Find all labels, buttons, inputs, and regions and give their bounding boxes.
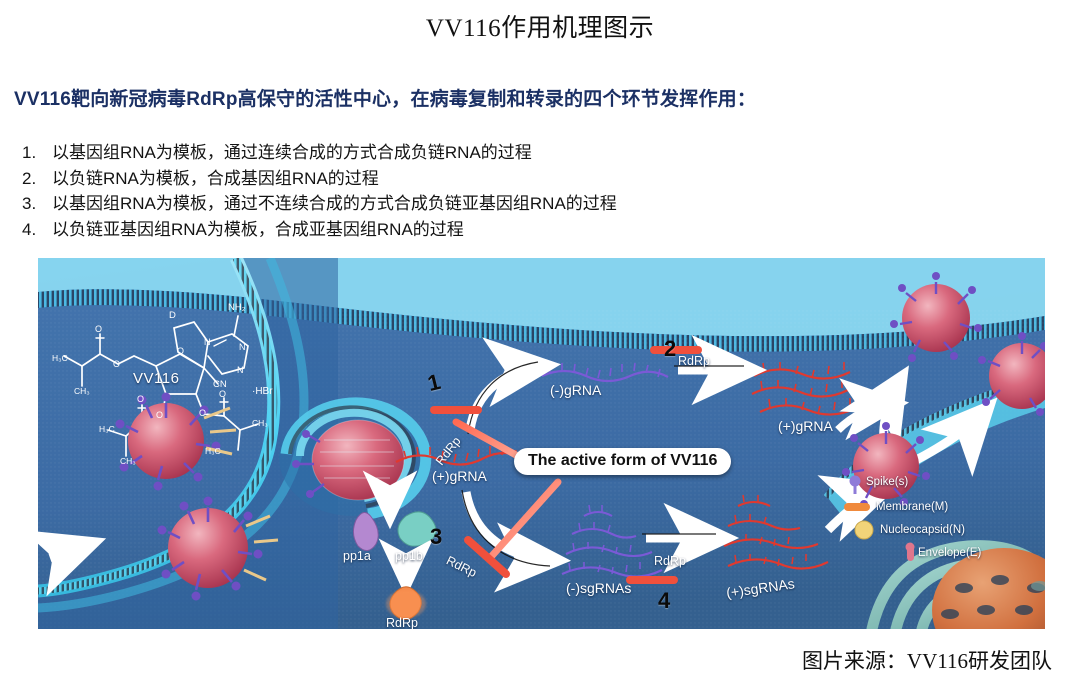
chem-label-o-7: O	[219, 389, 226, 399]
list-item-text: 以负链亚基因组RNA为模板，合成亚基因组RNA的过程	[52, 217, 464, 243]
page-title: VV116作用机理图示	[0, 8, 1080, 44]
chem-label-h3c-3: H₃C	[205, 446, 221, 456]
image-source-caption: 图片来源：VV116研发团队	[802, 645, 1052, 675]
active-form-badge: The active form of VV116	[514, 448, 731, 475]
list-item-number: 3.	[22, 191, 52, 217]
chem-label-o-3: O	[137, 394, 144, 404]
step-number-2: 2	[664, 336, 676, 362]
chem-label-o-6: O	[199, 408, 206, 418]
chem-label-nh2: NH₂	[228, 302, 245, 313]
chem-label-h3c-2: H₃C	[99, 424, 115, 434]
list-item-text: 以基因组RNA为模板，通过连续合成的方式合成负链RNA的过程	[52, 140, 532, 166]
chem-label-n-1: N	[204, 337, 211, 347]
chem-label-o-1: O	[95, 324, 102, 334]
chem-label-cn: CN	[213, 379, 227, 390]
list-item-text: 以基因组RNA为模板，通过不连续合成的方式合成负链亚基因组RNA的过程	[52, 191, 617, 217]
step-number-3: 3	[430, 524, 442, 550]
membrane-icon	[844, 503, 870, 511]
list-item: 1. 以基因组RNA为模板，通过连续合成的方式合成负链RNA的过程	[22, 140, 1042, 166]
chem-label-ch3-3: CH₃	[252, 418, 268, 428]
chem-label-o-5: O	[177, 346, 184, 356]
legend-label-membrane: Membrane(M)	[876, 501, 948, 513]
spike-icon	[850, 476, 861, 487]
lead-statement: VV116靶向新冠病毒RdRp高保守的活性中心，在病毒复制和转录的四个环节发挥作…	[14, 84, 1064, 111]
legend-label-nucleocapsid: Nucleocapsid(N)	[880, 524, 965, 536]
chem-label-ch3-1: CH₃	[74, 386, 90, 396]
chem-label-h3c-1: H₃C	[52, 353, 68, 363]
list-item-number: 1.	[22, 140, 52, 166]
legend-label-envelope: Envelope(E)	[918, 547, 981, 559]
list-item: 4. 以负链亚基因组RNA为模板，合成亚基因组RNA的过程	[22, 217, 1042, 243]
nucleocapsid-icon	[855, 521, 873, 539]
list-item-number: 4.	[22, 217, 52, 243]
chem-label-hbr: ·HBr	[252, 386, 273, 397]
list-item: 3. 以基因组RNA为模板，通过不连续合成的方式合成负链亚基因组RNA的过程	[22, 191, 1042, 217]
chem-label-o-2: O	[113, 359, 120, 369]
chem-label-o-4: O	[156, 410, 163, 420]
list-item-number: 2.	[22, 166, 52, 192]
mechanism-step-list: 1. 以基因组RNA为模板，通过连续合成的方式合成负链RNA的过程 2. 以负链…	[22, 140, 1042, 242]
list-item-text: 以负链RNA为模板，合成基因组RNA的过程	[52, 166, 379, 192]
step-number-4: 4	[658, 588, 670, 614]
chem-label-n-2: N	[239, 342, 246, 352]
chem-label-ch3-2: CH₃	[120, 456, 136, 466]
chem-label-d: D	[169, 310, 176, 321]
illustration-canvas	[38, 258, 1045, 629]
mechanism-illustration: H₃C CH₃ O O H₃C CH₃ O O O O O H₃C CH₃ CN…	[38, 258, 1045, 629]
legend-label-spike: Spike(s)	[866, 476, 908, 488]
list-item: 2. 以负链RNA为模板，合成基因组RNA的过程	[22, 166, 1042, 192]
chem-label-n-3: N	[237, 365, 244, 375]
